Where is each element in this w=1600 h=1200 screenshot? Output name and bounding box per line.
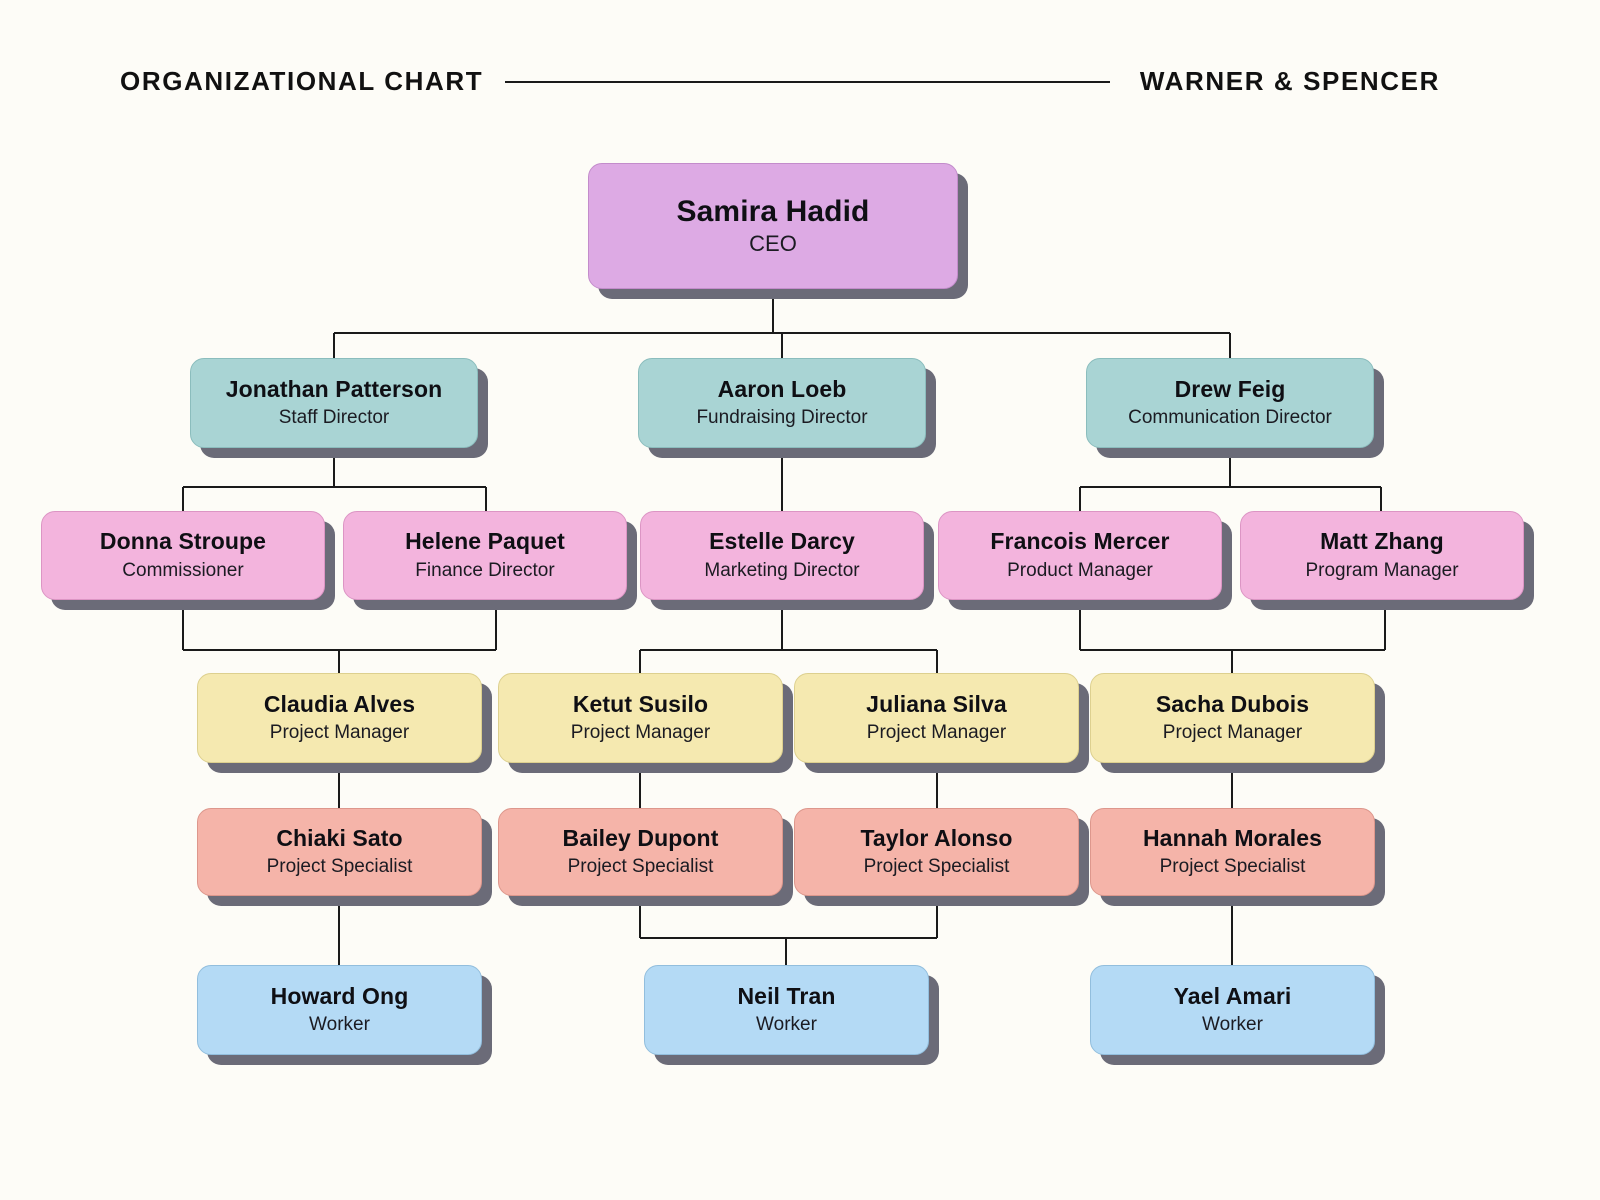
node-role: Product Manager [1007, 560, 1153, 583]
chart-header: ORGANIZATIONAL CHART WARNER & SPENCER [0, 0, 1600, 140]
node-name: Claudia Alves [264, 691, 415, 717]
node-director-drew-feig[interactable]: Drew Feig Communication Director [1086, 358, 1374, 448]
node-name: Donna Stroupe [100, 528, 266, 554]
node-role: Project Specialist [568, 856, 714, 879]
node-role: Project Specialist [267, 856, 413, 879]
node-role: Worker [1202, 1014, 1263, 1037]
header-divider-line [505, 81, 1110, 83]
node-project-specialist-bailey-dupont[interactable]: Bailey Dupont Project Specialist [498, 808, 783, 896]
node-name: Drew Feig [1175, 376, 1286, 402]
node-role: Worker [756, 1014, 817, 1037]
node-name: Howard Ong [271, 983, 409, 1009]
node-role: Worker [309, 1014, 370, 1037]
node-name: Ketut Susilo [573, 691, 708, 717]
node-role: Project Specialist [864, 856, 1010, 879]
node-role: Staff Director [279, 407, 390, 430]
node-project-specialist-taylor-alonso[interactable]: Taylor Alonso Project Specialist [794, 808, 1079, 896]
node-name: Aaron Loeb [718, 376, 847, 402]
node-manager-donna-stroupe[interactable]: Donna Stroupe Commissioner [41, 511, 325, 600]
node-project-manager-claudia-alves[interactable]: Claudia Alves Project Manager [197, 673, 482, 763]
node-name: Samira Hadid [677, 195, 870, 230]
node-manager-helene-paquet[interactable]: Helene Paquet Finance Director [343, 511, 627, 600]
page-title: ORGANIZATIONAL CHART [120, 66, 483, 97]
node-role: Project Manager [270, 722, 409, 745]
node-role: CEO [749, 231, 797, 257]
node-name: Yael Amari [1174, 983, 1292, 1009]
node-role: Project Manager [867, 722, 1006, 745]
node-name: Francois Mercer [990, 528, 1169, 554]
node-name: Neil Tran [737, 983, 835, 1009]
node-manager-estelle-darcy[interactable]: Estelle Darcy Marketing Director [640, 511, 924, 600]
node-worker-howard-ong[interactable]: Howard Ong Worker [197, 965, 482, 1055]
node-name: Matt Zhang [1320, 528, 1444, 554]
node-name: Sacha Dubois [1156, 691, 1309, 717]
node-name: Jonathan Patterson [226, 376, 443, 402]
node-role: Project Manager [571, 722, 710, 745]
node-role: Commissioner [122, 560, 243, 583]
node-name: Juliana Silva [866, 691, 1007, 717]
org-chart-canvas: ORGANIZATIONAL CHART WARNER & SPENCER [0, 0, 1600, 1200]
node-worker-yael-amari[interactable]: Yael Amari Worker [1090, 965, 1375, 1055]
node-manager-francois-mercer[interactable]: Francois Mercer Product Manager [938, 511, 1222, 600]
node-role: Program Manager [1305, 560, 1458, 583]
node-role: Finance Director [415, 560, 554, 583]
node-director-aaron-loeb[interactable]: Aaron Loeb Fundraising Director [638, 358, 926, 448]
node-ceo-samira-hadid[interactable]: Samira Hadid CEO [588, 163, 958, 289]
node-project-manager-juliana-silva[interactable]: Juliana Silva Project Manager [794, 673, 1079, 763]
node-name: Helene Paquet [405, 528, 565, 554]
node-role: Marketing Director [704, 560, 859, 583]
node-role: Fundraising Director [696, 407, 867, 430]
node-director-jonathan-patterson[interactable]: Jonathan Patterson Staff Director [190, 358, 478, 448]
node-role: Project Specialist [1160, 856, 1306, 879]
node-name: Chiaki Sato [276, 825, 402, 851]
node-worker-neil-tran[interactable]: Neil Tran Worker [644, 965, 929, 1055]
node-name: Taylor Alonso [860, 825, 1012, 851]
node-project-manager-sacha-dubois[interactable]: Sacha Dubois Project Manager [1090, 673, 1375, 763]
node-name: Estelle Darcy [709, 528, 855, 554]
node-name: Bailey Dupont [563, 825, 719, 851]
node-name: Hannah Morales [1143, 825, 1322, 851]
company-name: WARNER & SPENCER [1140, 66, 1440, 97]
node-role: Project Manager [1163, 722, 1302, 745]
node-project-specialist-hannah-morales[interactable]: Hannah Morales Project Specialist [1090, 808, 1375, 896]
node-role: Communication Director [1128, 407, 1332, 430]
node-manager-matt-zhang[interactable]: Matt Zhang Program Manager [1240, 511, 1524, 600]
node-project-specialist-chiaki-sato[interactable]: Chiaki Sato Project Specialist [197, 808, 482, 896]
node-project-manager-ketut-susilo[interactable]: Ketut Susilo Project Manager [498, 673, 783, 763]
